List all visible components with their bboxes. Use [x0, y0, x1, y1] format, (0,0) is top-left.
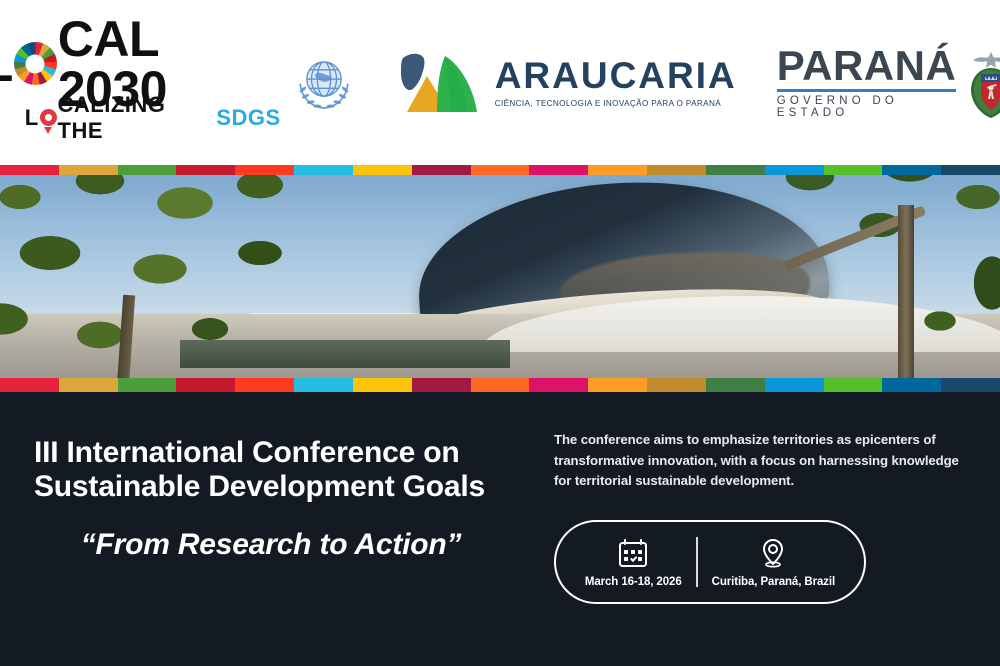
sdg-stripe-segment-15 [824, 165, 883, 175]
sdg-stripe-segment-3 [118, 378, 177, 392]
sdg-stripe-segment-7 [353, 378, 412, 392]
sdg-stripe-segment-15 [824, 378, 883, 392]
sdg-stripe-segment-10 [529, 378, 588, 392]
sdg-stripe-segment-8 [412, 378, 471, 392]
oscar-niemeyer-museum-photo [0, 175, 1000, 378]
sdg-stripe-segment-9 [471, 378, 530, 392]
parana-coat-of-arms-icon [963, 46, 1000, 120]
parana-subtitle: GOVERNO DO ESTADO [777, 95, 957, 119]
local2030-letter-l: L [0, 39, 13, 89]
sdg-stripe-segment-12 [647, 165, 706, 175]
localizing-prefix: L [25, 105, 39, 131]
event-info-pill: March 16-18, 2026 Curitiba, Paraná, Braz… [554, 520, 866, 604]
sdg-stripe-segment-17 [941, 378, 1000, 392]
sdg-stripe-segment-5 [235, 165, 294, 175]
sdg-color-stripe-top [0, 165, 1000, 175]
sdg-stripe-segment-13 [706, 378, 765, 392]
logo-araucaria: ARAUCARIA CIÊNCIA, TECNOLOGIA E INOVAÇÃO… [393, 48, 737, 118]
event-location-item: Curitiba, Paraná, Brazil [698, 536, 850, 588]
localizing-middle: CALIZING THE [58, 92, 217, 144]
localizing-sdgs: SDGS [216, 105, 280, 131]
sdg-stripe-segment-2 [59, 165, 118, 175]
logo-header-band: L CAL 2030 L CALIZING THE SDGS [0, 0, 1000, 165]
title-column: III International Conference on Sustaina… [34, 426, 554, 666]
sdg-stripe-segment-12 [647, 378, 706, 392]
conference-title: III International Conference on Sustaina… [34, 436, 554, 504]
sdg-stripe-segment-16 [882, 165, 941, 175]
sdg-stripe-segment-3 [118, 165, 177, 175]
logo-local-2030: L CAL 2030 L CALIZING THE SDGS [0, 38, 357, 128]
conference-description: The conference aims to emphasize territo… [554, 430, 966, 492]
pill-divider [696, 537, 698, 587]
sdg-stripe-segment-11 [588, 378, 647, 392]
sdg-color-stripe-bottom [0, 378, 1000, 392]
sdg-stripe-segment-2 [59, 378, 118, 392]
sdg-stripe-segment-5 [235, 378, 294, 392]
sdg-stripe-segment-16 [882, 378, 941, 392]
sdg-color-wheel-icon [14, 42, 57, 85]
sdg-stripe-segment-4 [176, 378, 235, 392]
sdg-stripe-segment-9 [471, 165, 530, 175]
un-globe-laurel-icon [291, 50, 357, 116]
conference-banner: L CAL 2030 L CALIZING THE SDGS [0, 0, 1000, 666]
sdg-stripe-segment-7 [353, 165, 412, 175]
calendar-icon [616, 536, 650, 570]
sdg-stripe-segment-6 [294, 165, 353, 175]
sdg-stripe-segment-14 [765, 165, 824, 175]
conference-tagline: “From Research to Action” [34, 528, 554, 562]
sdg-stripe-segment-4 [176, 165, 235, 175]
sdg-stripe-segment-17 [941, 165, 1000, 175]
location-pin-icon [40, 109, 57, 133]
araucaria-mark-icon [393, 48, 485, 118]
sdg-stripe-segment-13 [706, 165, 765, 175]
sdg-stripe-segment-11 [588, 165, 647, 175]
araucaria-title: ARAUCARIA [495, 57, 737, 94]
content-section: III International Conference on Sustaina… [0, 392, 1000, 666]
sdg-stripe-segment-8 [412, 165, 471, 175]
logo-parana-government: PARANÁ GOVERNO DO ESTADO [777, 46, 1000, 120]
event-date-item: March 16-18, 2026 [571, 536, 696, 588]
sdg-stripe-segment-14 [765, 378, 824, 392]
parana-rule [777, 89, 957, 92]
map-pin-icon [756, 536, 790, 570]
sdg-stripe-segment-10 [529, 165, 588, 175]
araucaria-tagline: CIÊNCIA, TECNOLOGIA E INOVAÇÃO PARA O PA… [495, 99, 737, 108]
sdg-stripe-segment-1 [0, 378, 59, 392]
info-column: The conference aims to emphasize territo… [554, 426, 966, 666]
event-date-label: March 16-18, 2026 [585, 576, 682, 588]
sdg-stripe-segment-1 [0, 165, 59, 175]
event-location-label: Curitiba, Paraná, Brazil [712, 576, 836, 588]
sdg-stripe-segment-6 [294, 378, 353, 392]
parana-title: PARANÁ [777, 46, 957, 86]
